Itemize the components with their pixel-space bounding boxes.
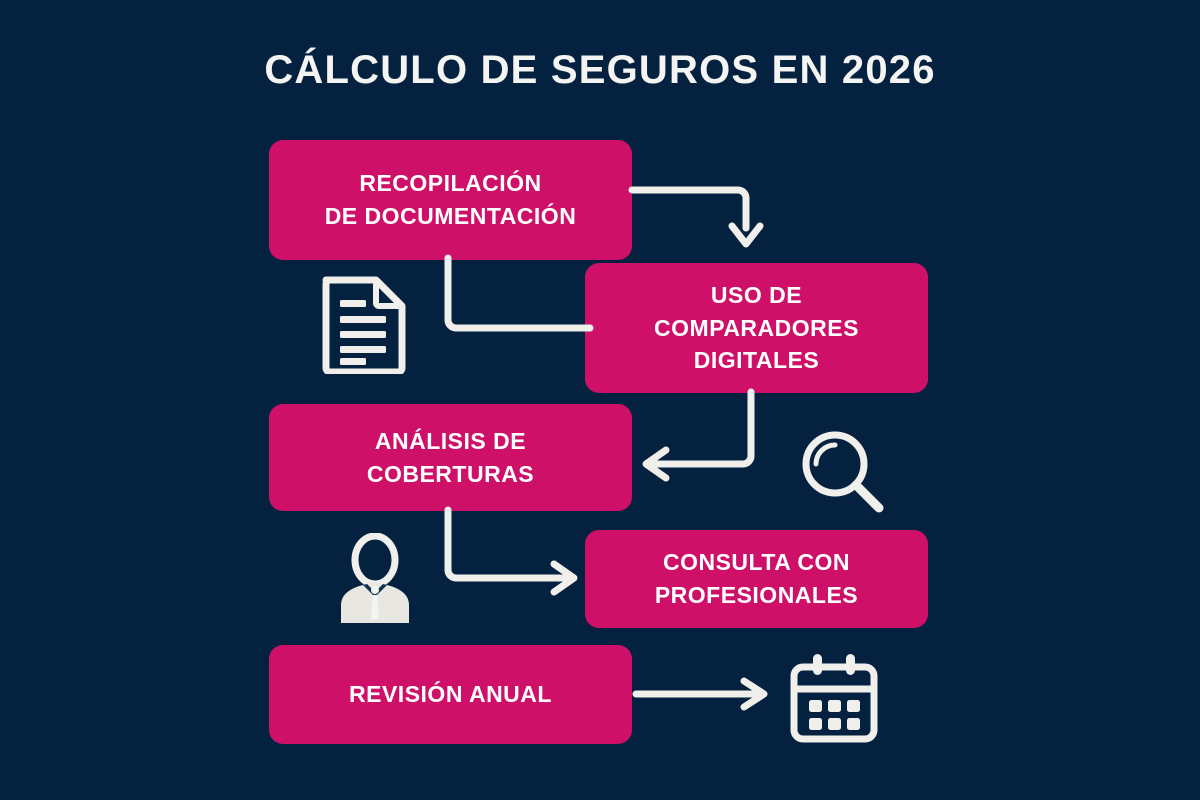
document-icon [316,274,412,374]
flow-step-revision-anual[interactable]: REVISIÓN ANUAL [269,645,632,744]
infographic-canvas: CÁLCULO DE SEGUROS EN 2026 RECOPILACIÓN … [0,0,1200,800]
flow-step-label: REVISIÓN ANUAL [349,678,552,711]
flow-step-recopilacion-de-documentacion[interactable]: RECOPILACIÓN DE DOCUMENTACIÓN [269,140,632,260]
person-businessman-icon [327,533,423,625]
connector-step5-to-calendar [630,676,775,712]
magnifier-icon [794,424,890,520]
calendar-icon [786,650,882,746]
flow-step-uso-de-comparadores-digitales[interactable]: USO DE COMPARADORES DIGITALES [585,263,928,393]
flow-step-label: RECOPILACIÓN DE DOCUMENTACIÓN [325,167,577,232]
connector-step1-to-step2-lower [432,252,597,347]
flow-step-label: CONSULTA CON PROFESIONALES [655,546,858,611]
connector-step1-to-step2 [628,170,788,260]
flow-step-consulta-con-profesionales[interactable]: CONSULTA CON PROFESIONALES [585,530,928,628]
flow-step-label: ANÁLISIS DE COBERTURAS [367,425,534,490]
connector-step3-to-step4 [432,504,592,599]
flow-step-label: USO DE COMPARADORES DIGITALES [654,279,859,377]
connector-step2-to-step3 [632,386,777,486]
page-title: CÁLCULO DE SEGUROS EN 2026 [0,48,1200,92]
flow-step-analisis-de-coberturas[interactable]: ANÁLISIS DE COBERTURAS [269,404,632,511]
